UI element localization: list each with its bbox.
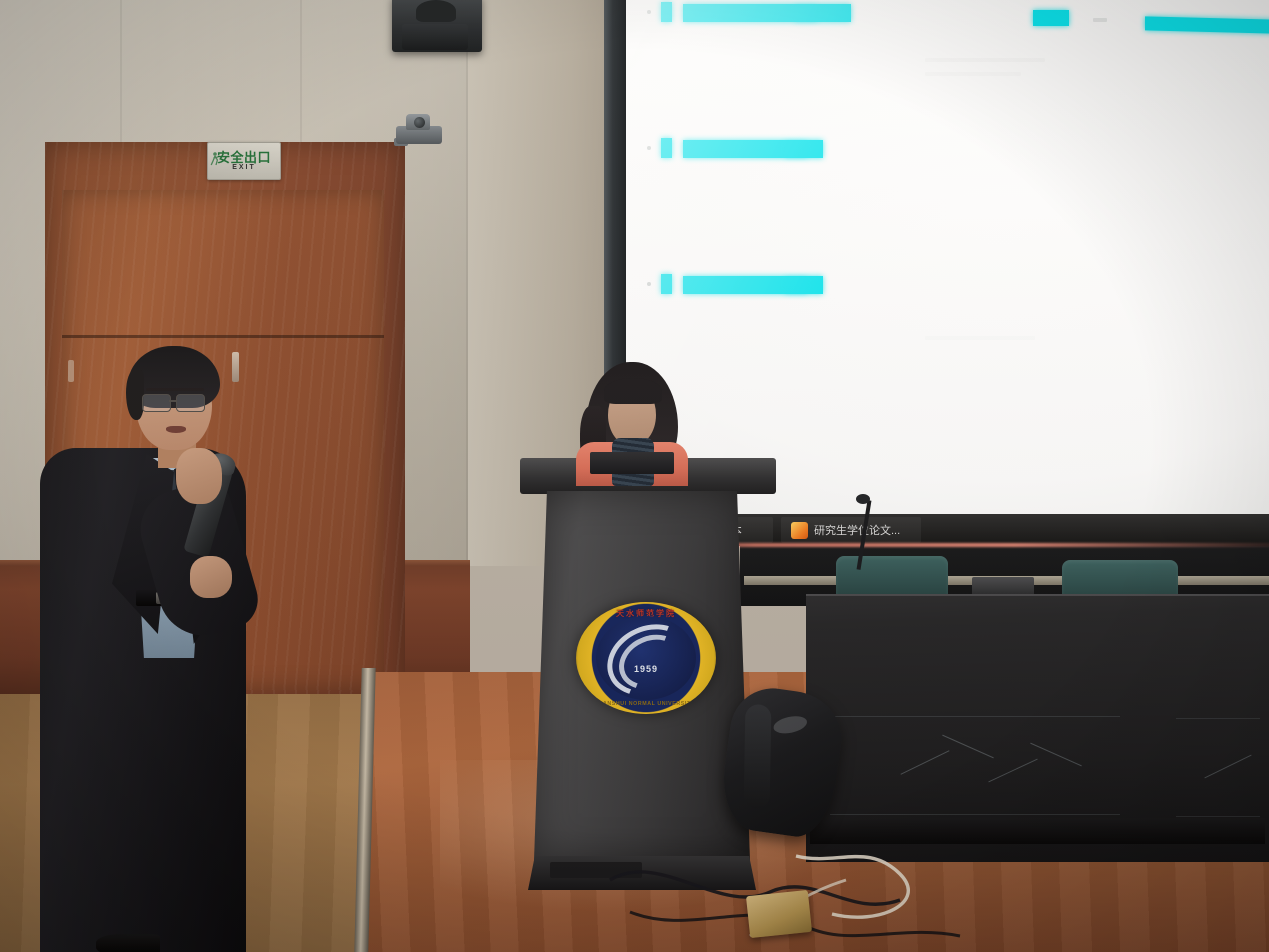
slide-faint-text	[925, 336, 1035, 340]
table-chevron	[942, 735, 994, 759]
exit-sign-english: EXIT	[232, 164, 256, 172]
highlight-block	[683, 4, 851, 22]
app-icon	[791, 522, 808, 539]
emblem-english-name: TIANSHUI NORMAL UNIVERSITY	[579, 701, 713, 707]
table-moulding	[830, 814, 1120, 815]
table-chevron	[988, 759, 1037, 783]
table-moulding	[830, 716, 1120, 717]
emblem-founded-year: 1959	[576, 664, 716, 674]
taskbar-item-document[interactable]: 研究生学位论文...	[781, 517, 921, 543]
glasses-lens	[176, 394, 205, 412]
highlight-block	[1145, 16, 1269, 33]
door-seam	[62, 335, 384, 338]
emergency-exit-sign: 安全出口 EXIT	[207, 142, 281, 180]
slide-faint-text	[925, 58, 1045, 62]
highlight-block	[795, 6, 817, 21]
backpack-highlight	[772, 713, 809, 736]
exit-sign-chinese: 安全出口	[217, 151, 271, 164]
slide-bullet	[647, 10, 651, 14]
speaker-mouth	[166, 426, 186, 433]
slide-bullet	[647, 146, 651, 150]
speaker-brow	[146, 388, 204, 391]
laptop[interactable]	[590, 452, 674, 474]
slide-faint-text	[925, 72, 1021, 76]
attendee-fringe	[604, 378, 662, 404]
running-man-icon	[210, 151, 220, 169]
table-chevron	[1204, 755, 1251, 779]
highlight-block	[785, 278, 807, 293]
highlight-block	[785, 142, 807, 157]
desk-microphone-head	[856, 494, 870, 504]
power-strip[interactable]	[746, 890, 812, 938]
speaker-other-hand	[190, 556, 232, 598]
taskbar-item-label: 研究生学位论文...	[814, 522, 900, 538]
projection-screen	[625, 0, 1269, 536]
table-moulding	[1176, 718, 1260, 719]
highlight-block	[661, 138, 672, 158]
camera-lens-icon	[414, 117, 425, 128]
screen-glare	[625, 0, 1269, 536]
table-chevron	[1030, 743, 1082, 767]
lecture-hall-photo: 安全出口 EXIT	[0, 0, 1269, 952]
speaker-shoe	[96, 934, 160, 952]
glasses-icon	[142, 394, 208, 411]
slide-bullet	[647, 282, 651, 286]
speaker-person	[18, 340, 258, 952]
ceiling-projector-icon	[392, 0, 482, 52]
wall-camera-icon	[392, 114, 444, 148]
highlight-block	[661, 274, 672, 294]
university-emblem: 天水师范学院 1959 TIANSHUI NORMAL UNIVERSITY	[576, 602, 716, 714]
speaker-hand	[176, 448, 222, 504]
highlight-block	[661, 2, 672, 22]
backpack-strap	[744, 704, 772, 808]
glasses-lens	[142, 394, 171, 412]
table-chevron	[901, 750, 950, 775]
slide-faint-text	[1093, 18, 1107, 22]
highlight-block	[1033, 10, 1069, 26]
table-moulding	[1176, 816, 1260, 817]
